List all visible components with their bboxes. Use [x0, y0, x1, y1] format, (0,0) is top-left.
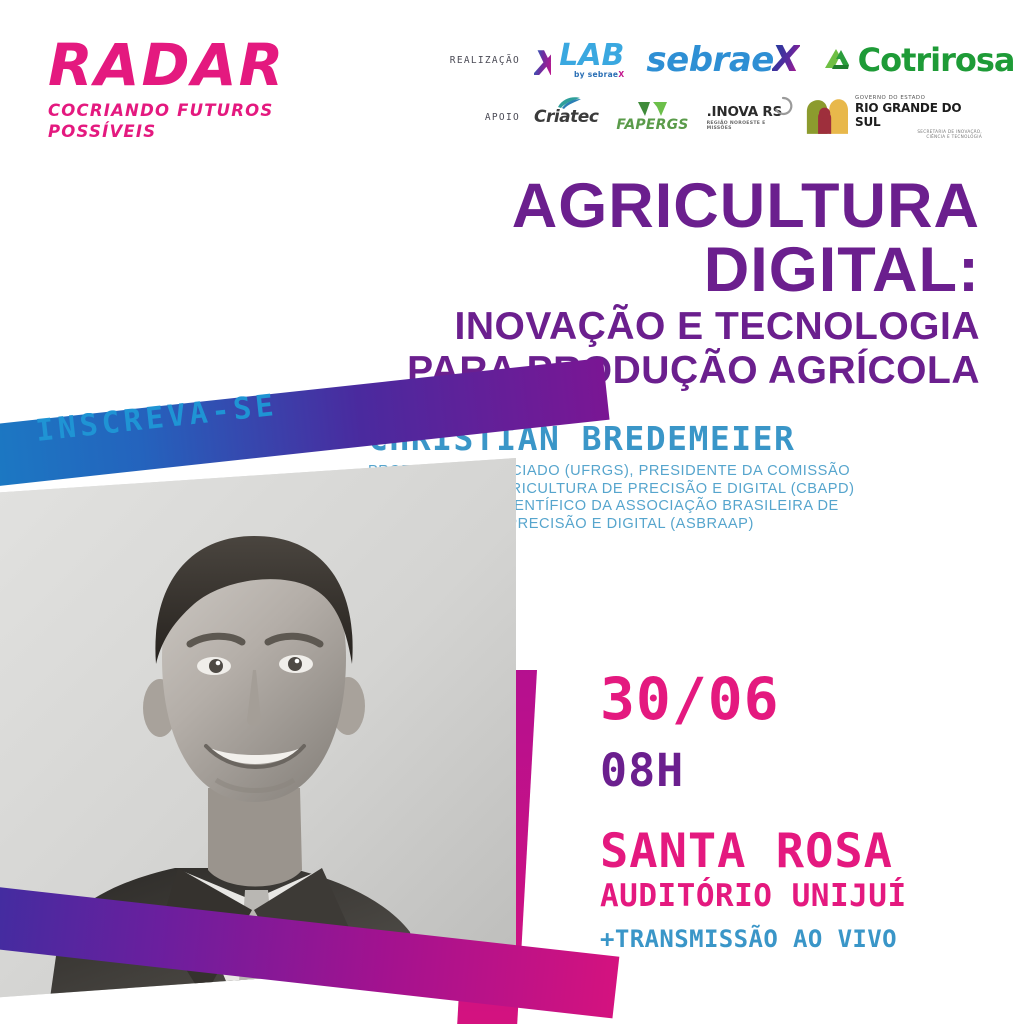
brand-tagline-line2: POSSÍVEIS — [48, 121, 348, 142]
apoio-row: APOIO Criatec FAPERGS — [440, 92, 1000, 142]
cotrirosa-leaf-icon — [822, 45, 852, 75]
realizacao-row: REALIZAÇÃO X LAB by sebraeX sebrae X — [440, 36, 1000, 84]
event-date: 30/06 — [600, 668, 1000, 730]
xlab-logo: X LAB by sebraeX — [534, 42, 624, 79]
event-time: 08H — [600, 746, 1000, 796]
title-line-3: INOVAÇÃO E TECNOLOGIA — [340, 305, 980, 349]
title-line-2: DIGITAL: — [340, 237, 980, 303]
event-poster: RADAR COCRIANDO FUTUROS POSSÍVEIS REALIZ… — [0, 0, 1024, 1024]
criatec-logo: Criatec — [534, 107, 598, 127]
event-info-block: 30/06 08H SANTA ROSA AUDITÓRIO UNIJUÍ +T… — [600, 668, 1000, 954]
radar-brand-logo: RADAR COCRIANDO FUTUROS POSSÍVEIS — [48, 36, 348, 142]
brand-tagline: COCRIANDO FUTUROS POSSÍVEIS — [48, 100, 348, 142]
governo-rs-sub2: CIÊNCIA E TECNOLOGIA — [926, 134, 982, 139]
fapergs-wordmark: FAPERGS — [616, 117, 688, 133]
governo-rs-main: RIO GRANDE DO SUL — [855, 101, 982, 129]
sponsors-area: REALIZAÇÃO X LAB by sebraeX sebrae X — [440, 36, 1000, 142]
brand-name: RADAR — [48, 36, 348, 94]
apoio-label: APOIO — [440, 112, 534, 123]
event-city: SANTA ROSA — [600, 826, 1000, 878]
fapergs-logo: FAPERGS — [616, 101, 688, 133]
xlab-wordmark: LAB — [559, 42, 624, 69]
criatec-wordmark: Criatec — [534, 107, 598, 127]
event-venue: AUDITÓRIO UNIJUÍ — [600, 878, 1000, 914]
inova-rs-sub: REGIÃO NOROESTE E MISSÕES — [707, 121, 788, 131]
sebrae-x-icon: X — [772, 43, 800, 77]
governo-rs-logo: GOVERNO DO ESTADO RIO GRANDE DO SUL SECR… — [805, 95, 982, 139]
cotrirosa-logo: Cotrirosa — [822, 44, 1015, 76]
sebrae-wordmark: sebrae — [646, 43, 773, 77]
event-livestream-note: +TRANSMISSÃO AO VIVO — [600, 924, 1000, 954]
speaker-photo-composition: INSCREVA-SE — [0, 398, 570, 1024]
brand-tagline-line1: COCRIANDO FUTUROS — [48, 100, 348, 121]
cotrirosa-wordmark: Cotrirosa — [858, 44, 1015, 76]
inova-rs-logo: .INOVA RS REGIÃO NOROESTE E MISSÕES — [707, 103, 788, 131]
realizacao-label: REALIZAÇÃO — [440, 55, 534, 66]
title-line-1: AGRICULTURA — [340, 175, 980, 237]
sebrae-logo: sebrae X — [646, 43, 799, 77]
xlab-x-icon: X — [534, 49, 551, 79]
inova-rs-wordmark: .INOVA RS — [707, 104, 783, 120]
page-title: AGRICULTURA DIGITAL: INOVAÇÃO E TECNOLOG… — [340, 175, 980, 393]
xlab-byline: by sebraeX — [559, 70, 624, 79]
